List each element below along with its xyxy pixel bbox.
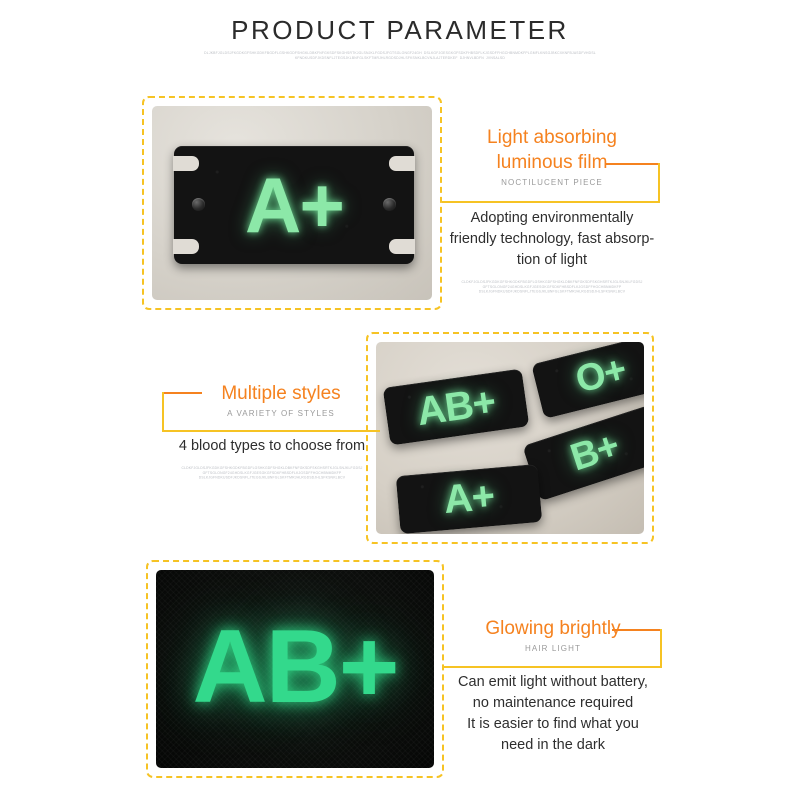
screw-right-icon (383, 198, 396, 211)
body-block-section-2: 4 blood types to choose from CLDKFJGLDSJ… (160, 436, 384, 482)
headline-line-1: Light absorbing (442, 125, 662, 150)
clip-cut-top-right (389, 156, 415, 171)
patch-label-ab-plus: AB+ (384, 376, 528, 437)
page-title: PRODUCT PARAMETER (0, 14, 800, 46)
bracket-horizontal-section-2 (162, 430, 380, 432)
headline-line-1: Multiple styles (172, 381, 390, 406)
body-line-1: 4 blood types to choose from (160, 436, 384, 457)
body-filler-text: CLDKFJGLDSJFKGDKGFSHKGDKFBGDFLGSHKGDFSHG… (454, 280, 650, 295)
body-line-4: need in the dark (436, 735, 670, 756)
body-line-1: Adopting environmentally (434, 208, 670, 229)
photo-blood-type-a-plus: A+ (152, 106, 432, 300)
body-line-3: tion of light (434, 250, 670, 271)
photo-frame-glow-in-dark: AB+ (146, 560, 444, 778)
patch-b-plus: B+ (522, 405, 644, 502)
body-line-3: It is easier to find what you (436, 714, 670, 735)
photo-frame-blood-type-a-plus: A+ (142, 96, 442, 310)
patch-a-plus-small: A+ (396, 464, 543, 534)
headline-block-section-2: Multiple styles A VARIETY OF STYLES (172, 381, 390, 418)
headline-block-section-1: Light absorbing luminous film NOCTILUCEN… (442, 125, 662, 187)
screw-left-icon (192, 198, 205, 211)
body-line-2: no maintenance required (436, 693, 670, 714)
clip-cut-top-left (173, 156, 199, 171)
body-line-2: friendly technology, fast absorp- (434, 229, 670, 250)
bracket-horizontal-section-3 (444, 666, 662, 668)
bracket-horizontal-section-1 (442, 201, 660, 203)
patch-label-ab-plus-glow: AB+ (156, 612, 434, 722)
headline-block-section-3: Glowing brightly HAIR LIGHT (444, 616, 662, 653)
subheadline: NOCTILUCENT PIECE (442, 178, 662, 187)
body-block-section-3: Can emit light without battery, no maint… (436, 672, 670, 756)
header-filler-text: DLJKBFJGLDSJFKGDKGFSHKGDKFBGDFLGSHKGDFSH… (150, 51, 650, 61)
patch-a-plus: A+ (174, 146, 414, 264)
clip-cut-bottom-left (173, 239, 199, 254)
photo-frame-four-patches: AB+ O+ B+ A+ (366, 332, 654, 544)
body-filler-text: CLDKFJGLDSJFKGDKGFSHKGDKFBGDFLGSHKGDFSHG… (176, 466, 368, 481)
headline-line-1: Glowing brightly (444, 616, 662, 641)
body-block-section-1: Adopting environmentally friendly techno… (434, 208, 670, 296)
patch-o-plus: O+ (531, 342, 644, 419)
headline-line-2: luminous film (442, 150, 662, 175)
subheadline: HAIR LIGHT (444, 644, 662, 653)
clip-cut-bottom-right (389, 239, 415, 254)
photo-glow-in-dark-ab-plus: AB+ (156, 570, 434, 768)
patch-label-o-plus: O+ (533, 342, 644, 411)
bracket-vertical-section-2 (162, 392, 164, 432)
patch-label-a-plus-small: A+ (396, 471, 541, 525)
subheadline: A VARIETY OF STYLES (172, 409, 390, 418)
body-line-1: Can emit light without battery, (436, 672, 670, 693)
patch-label-b-plus: B+ (524, 411, 644, 492)
page-header: PRODUCT PARAMETER DLJKBFJGLDSJFKGDKGFSHK… (0, 14, 800, 61)
photo-four-blood-type-patches: AB+ O+ B+ A+ (376, 342, 644, 534)
patch-label-a-plus: A+ (174, 163, 414, 247)
patch-ab-plus: AB+ (383, 369, 530, 446)
